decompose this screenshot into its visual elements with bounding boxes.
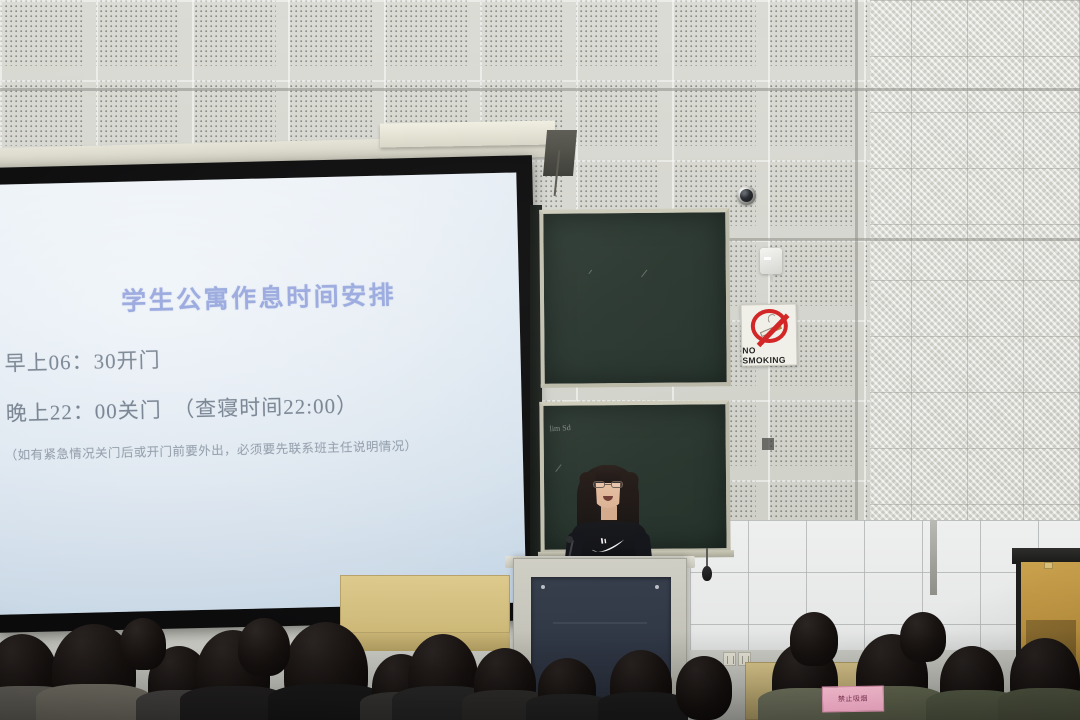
audience-head <box>940 646 1004 720</box>
audience-shoulder <box>0 686 78 720</box>
pink-desk-sign: 禁止吸烟 <box>822 685 884 712</box>
decorative-wall-tiles <box>855 0 1080 530</box>
projection-screen: 学生公寓作息时间安排 早上06：30开门 晚上22：00关门 （查寝时间22:0… <box>0 155 543 633</box>
wall-mounted-box <box>762 438 774 450</box>
nike-swoosh-icon <box>591 538 625 554</box>
pink-sign-label: 禁止吸烟 <box>838 694 868 705</box>
slide-note: （如有紧急情况关门后或开门前要外出，必须要先联系班主任说明情况） <box>5 435 418 464</box>
dome-camera-icon <box>737 186 756 205</box>
blackboard-upper-panel <box>539 208 731 388</box>
wall-seam <box>0 88 1080 91</box>
slide-line-morning: 早上06：30开门 <box>4 344 161 378</box>
projection-screen-housing-right <box>380 120 555 147</box>
lectern <box>513 558 687 720</box>
audience-shoulder <box>360 692 444 720</box>
audience-shoulder <box>180 686 288 720</box>
power-outlet <box>723 652 736 666</box>
piano-keybed <box>1026 620 1076 720</box>
audience-head <box>372 654 430 720</box>
neck <box>601 506 617 520</box>
slide-line-evening: 晚上22：00关门 （查寝时间22:00） <box>5 389 358 427</box>
speaker-mount <box>770 274 773 282</box>
no-smoking-sign: NO SMOKING <box>740 304 797 367</box>
audience-shoulder <box>36 684 152 720</box>
slide-title: 学生公寓作息时间安排 <box>121 275 397 317</box>
mouth <box>603 496 613 501</box>
podium-front-panel <box>531 577 671 705</box>
audience-head <box>196 630 270 720</box>
projected-slide: 学生公寓作息时间安排 早上06：30开门 晚上22：00关门 （查寝时间22:0… <box>0 173 526 615</box>
front-desk-left <box>340 575 510 633</box>
upright-piano <box>1012 548 1080 720</box>
audience-shoulder <box>392 686 494 720</box>
wall-speaker <box>760 248 782 274</box>
speaker-person <box>565 462 653 567</box>
hanging-microphone-icon <box>702 566 712 581</box>
no-smoking-icon <box>750 309 788 344</box>
hanging-wire <box>706 548 708 568</box>
piano-latch <box>1044 562 1053 569</box>
wall-trim <box>930 520 937 595</box>
chalk-writing: lim Sd <box>549 423 571 433</box>
microphone-icon <box>566 536 573 543</box>
audience-shoulder <box>136 690 224 720</box>
audience-shoulder <box>926 690 1020 720</box>
front-desk-left-base <box>340 633 510 651</box>
audience-shoulder <box>268 684 386 720</box>
wall-seam <box>855 0 858 530</box>
audience-head <box>0 634 58 720</box>
no-smoking-label: NO SMOKING <box>742 345 796 366</box>
audience-head <box>148 646 210 720</box>
eyeglasses-icon <box>593 481 623 488</box>
slide-content: 学生公寓作息时间安排 早上06：30开门 晚上22：00关门 （查寝时间22:0… <box>0 173 526 615</box>
lecture-hall-photo: 学生公寓作息时间安排 早上06：30开门 晚上22：00关门 （查寝时间22:0… <box>0 0 1080 720</box>
